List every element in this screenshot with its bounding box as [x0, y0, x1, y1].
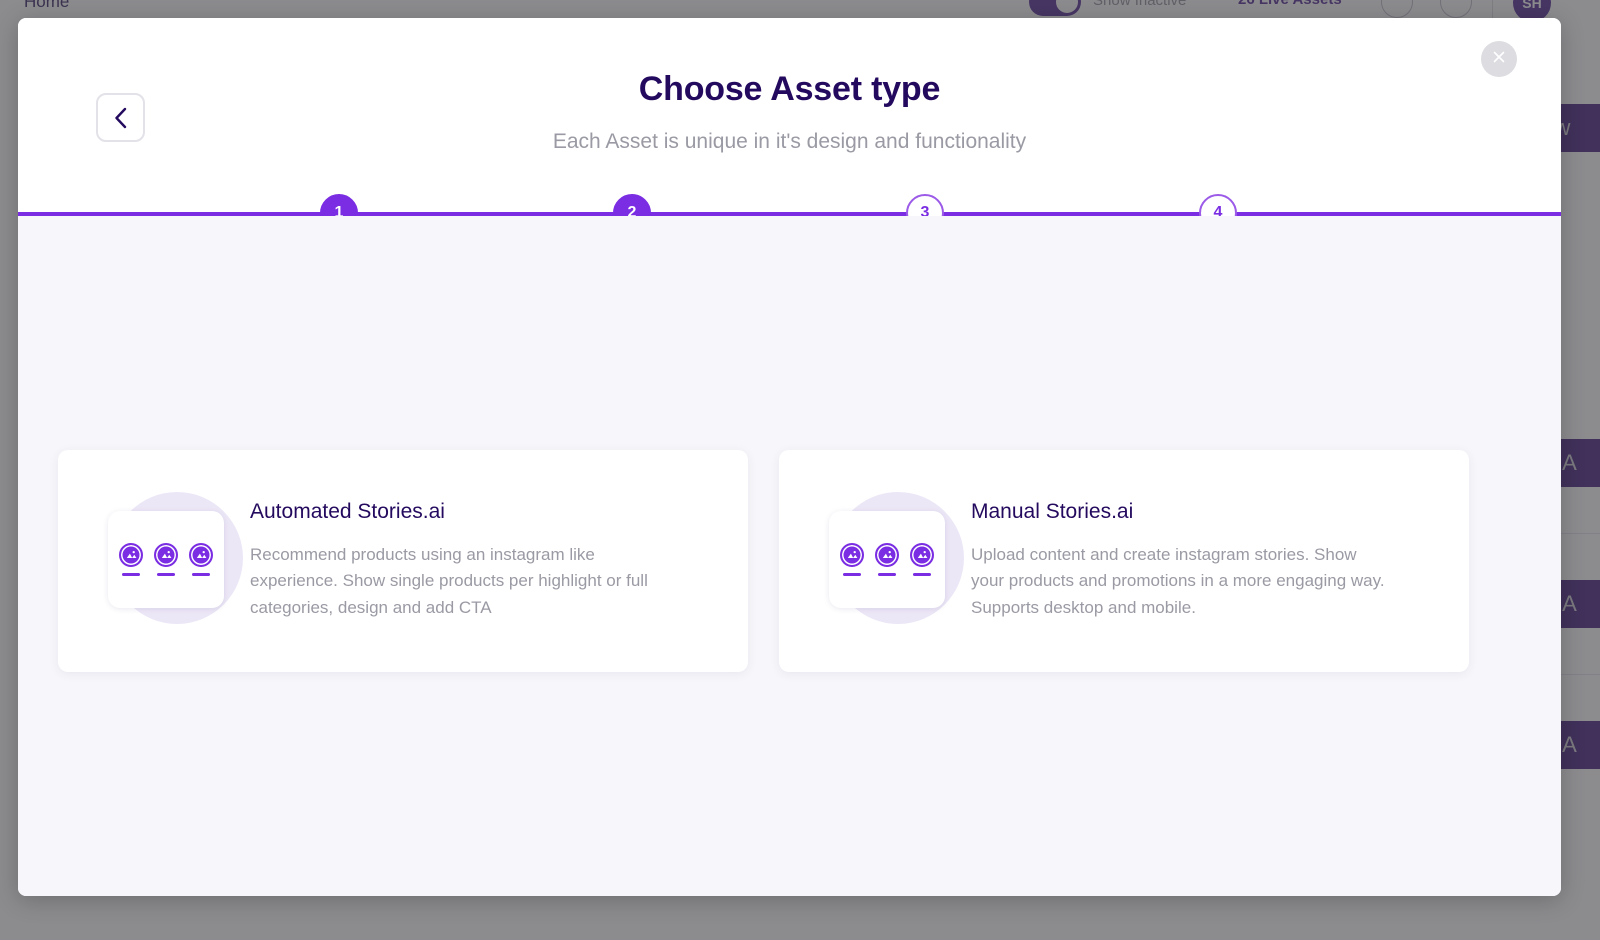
page-subtitle: Each Asset is unique in it's design and …	[18, 130, 1561, 154]
asset-type-card-automated-stories[interactable]: Automated Stories.ai Recommend products …	[58, 450, 748, 672]
story-underline	[192, 573, 210, 576]
image-icon	[875, 543, 899, 567]
image-icon	[840, 543, 864, 567]
story-underline	[878, 573, 896, 576]
story-underline	[843, 573, 861, 576]
image-icon	[189, 543, 213, 567]
story-bubble	[119, 543, 143, 576]
stories-bubbles-icon	[829, 511, 945, 608]
chevron-left-icon	[113, 106, 128, 130]
choose-asset-type-modal: Choose Asset type Each Asset is unique i…	[18, 18, 1561, 896]
page-root: Home Show Inactive 26 Live Assets SH new…	[0, 0, 1600, 940]
image-icon	[154, 543, 178, 567]
asset-type-list: Automated Stories.ai Recommend products …	[58, 450, 1521, 672]
modal-body: Automated Stories.ai Recommend products …	[18, 216, 1561, 896]
story-underline	[157, 573, 175, 576]
card-text: Manual Stories.ai Upload content and cre…	[971, 494, 1391, 621]
card-title: Manual Stories.ai	[971, 500, 1391, 524]
card-title: Automated Stories.ai	[250, 500, 670, 524]
story-bubble	[875, 543, 899, 576]
card-description: Upload content and create instagram stor…	[971, 542, 1391, 621]
close-icon	[1491, 49, 1507, 70]
stories-bubbles-icon	[108, 511, 224, 608]
story-bubble	[154, 543, 178, 576]
story-underline	[122, 573, 140, 576]
modal-header: Choose Asset type Each Asset is unique i…	[18, 18, 1561, 216]
card-text: Automated Stories.ai Recommend products …	[250, 494, 670, 621]
card-icon-wrap	[80, 494, 250, 624]
card-description: Recommend products using an instagram li…	[250, 542, 670, 621]
image-icon	[119, 543, 143, 567]
story-bubble	[910, 543, 934, 576]
asset-type-card-manual-stories[interactable]: Manual Stories.ai Upload content and cre…	[779, 450, 1469, 672]
story-bubble	[840, 543, 864, 576]
page-title: Choose Asset type	[18, 70, 1561, 109]
card-icon-wrap	[801, 494, 971, 624]
image-icon	[910, 543, 934, 567]
story-bubble	[189, 543, 213, 576]
story-underline	[913, 573, 931, 576]
